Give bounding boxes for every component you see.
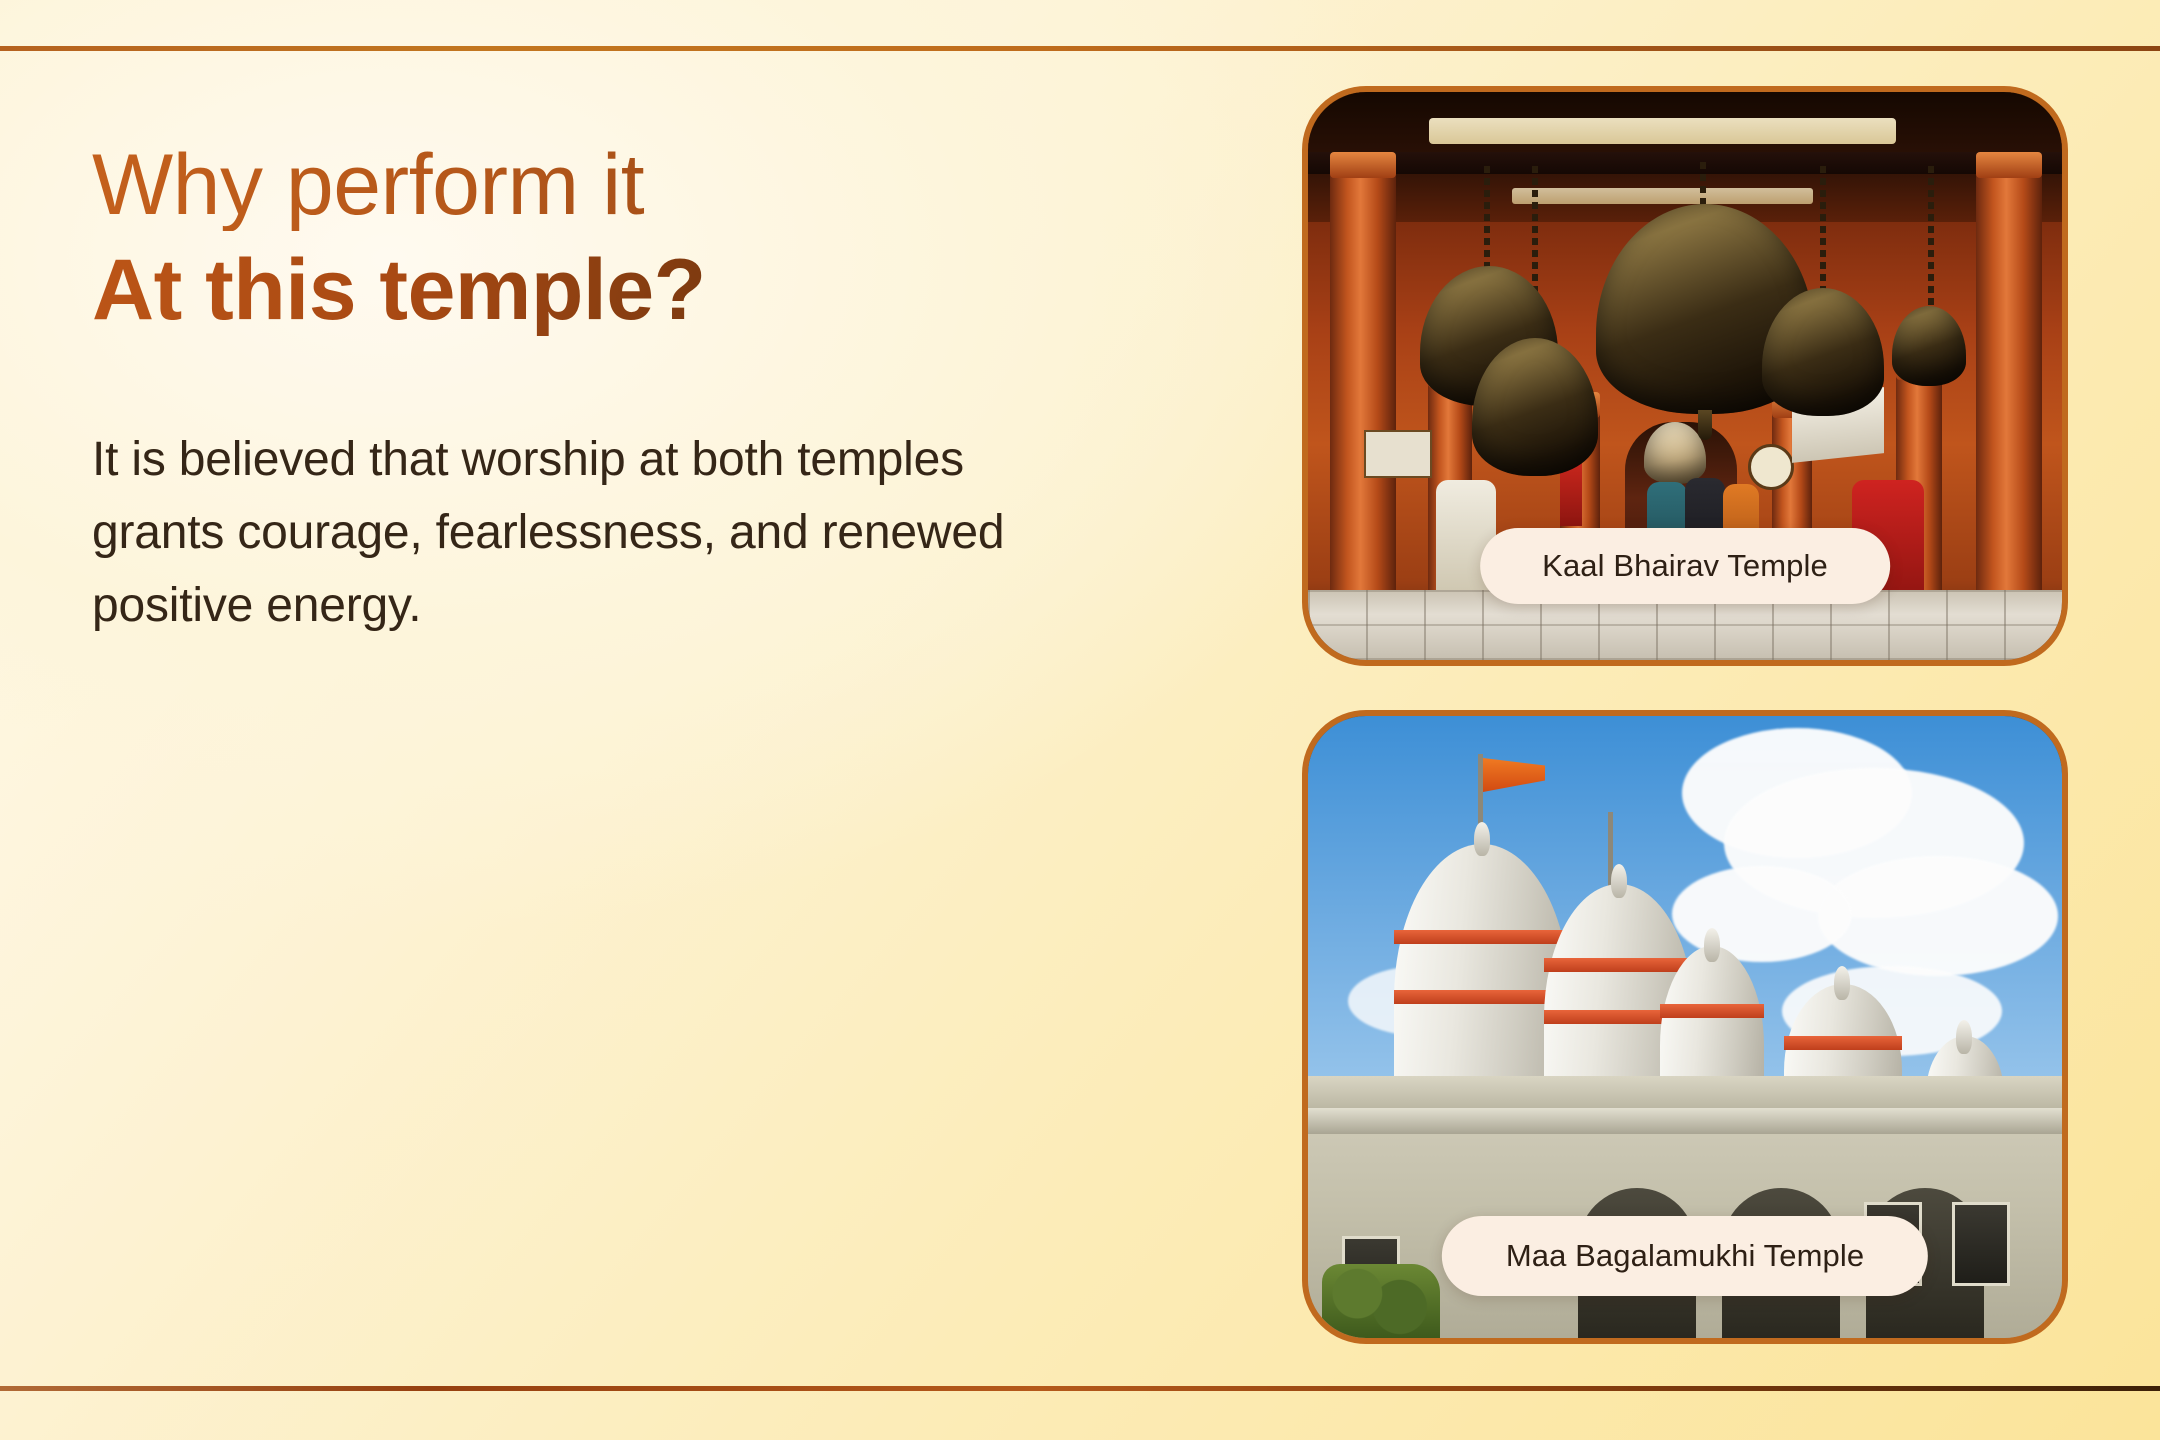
slide-root: Why perform it At this temple? It is bel… [0, 0, 2160, 1440]
photo-caption-maa-bagalamukhi: Maa Bagalamukhi Temple [1442, 1216, 1928, 1296]
bottom-divider-rule [0, 1386, 2160, 1391]
photo-card-maa-bagalamukhi[interactable]: Maa Bagalamukhi Temple [1302, 710, 2068, 1344]
page-title: Why perform it At this temple? [92, 140, 1092, 336]
top-divider-rule [0, 46, 2160, 51]
title-line-2: At this temple? [92, 245, 1092, 336]
body-paragraph: It is believed that worship at both temp… [92, 424, 1052, 643]
text-column: Why perform it At this temple? It is bel… [92, 140, 1092, 643]
title-line-1: Why perform it [92, 140, 1092, 231]
photo-caption-kaal-bhairav: Kaal Bhairav Temple [1480, 528, 1890, 604]
photo-column: Kaal Bhairav Temple [1302, 86, 2068, 1344]
photo-card-kaal-bhairav[interactable]: Kaal Bhairav Temple [1302, 86, 2068, 666]
